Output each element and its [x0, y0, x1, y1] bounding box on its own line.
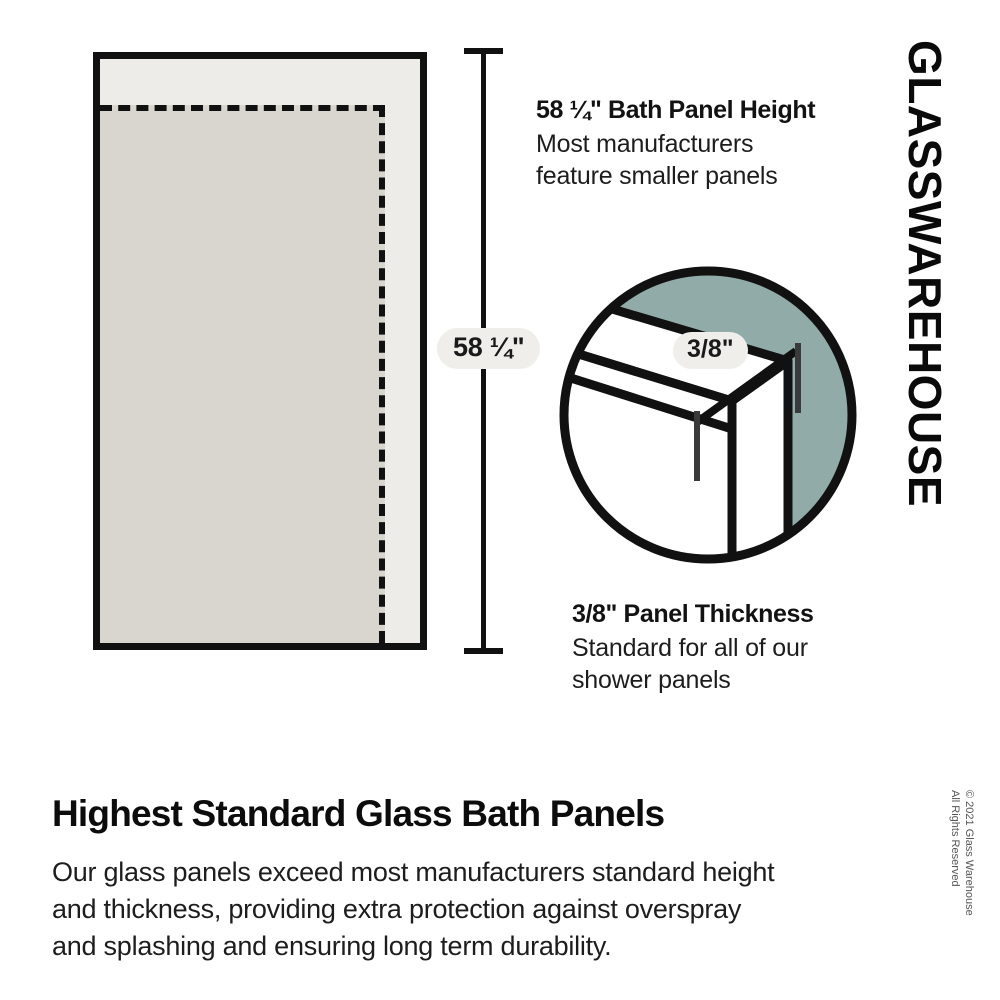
- footer-body-line1: Our glass panels exceed most manufacture…: [52, 854, 872, 891]
- competitor-panel-dashed-rectangle: [100, 105, 385, 643]
- brand-wordmark: GLASSWAREHOUSE: [890, 40, 950, 600]
- dimension-cap-bottom-icon: [464, 648, 503, 654]
- thickness-dimension-badge: 3/8": [673, 332, 748, 369]
- footer-body-line2: and thickness, providing extra protectio…: [52, 891, 872, 928]
- bath-panel-diagram: [93, 52, 427, 650]
- copyright-notice: © 2021 Glass Warehouse All Rights Reserv…: [930, 790, 990, 970]
- footer-heading: Highest Standard Glass Bath Panels: [52, 795, 872, 834]
- height-callout: 58 ¼" Bath Panel Height Most manufacture…: [536, 96, 896, 192]
- brand-wordmark-text: GLASSWAREHOUSE: [902, 40, 948, 507]
- copyright-line-1: © 2021 Glass Warehouse: [962, 790, 976, 916]
- height-callout-body-line2: feature smaller panels: [536, 160, 896, 192]
- infographic-canvas: 58 ¼" 58 ¼" Bath Panel Height Most manuf…: [0, 0, 1000, 1000]
- thickness-callout: 3/8" Panel Thickness Standard for all of…: [572, 600, 932, 696]
- thickness-callout-title: 3/8" Panel Thickness: [572, 600, 932, 628]
- height-dimension-badge: 58 ¼": [437, 328, 540, 369]
- footer-body-line3: and splashing and ensuring long term dur…: [52, 928, 872, 965]
- panel-thickness-detail-illustration: [556, 263, 860, 567]
- copyright-line-2: All Rights Reserved: [947, 790, 961, 916]
- height-callout-title: 58 ¼" Bath Panel Height: [536, 96, 896, 124]
- dashed-right-edge: [379, 105, 385, 643]
- dashed-top-edge: [100, 105, 385, 111]
- thickness-callout-body-line1: Standard for all of our: [572, 632, 932, 664]
- height-callout-body-line1: Most manufacturers: [536, 128, 896, 160]
- thickness-callout-body-line2: shower panels: [572, 664, 932, 696]
- footer-text-block: Highest Standard Glass Bath Panels Our g…: [52, 795, 872, 966]
